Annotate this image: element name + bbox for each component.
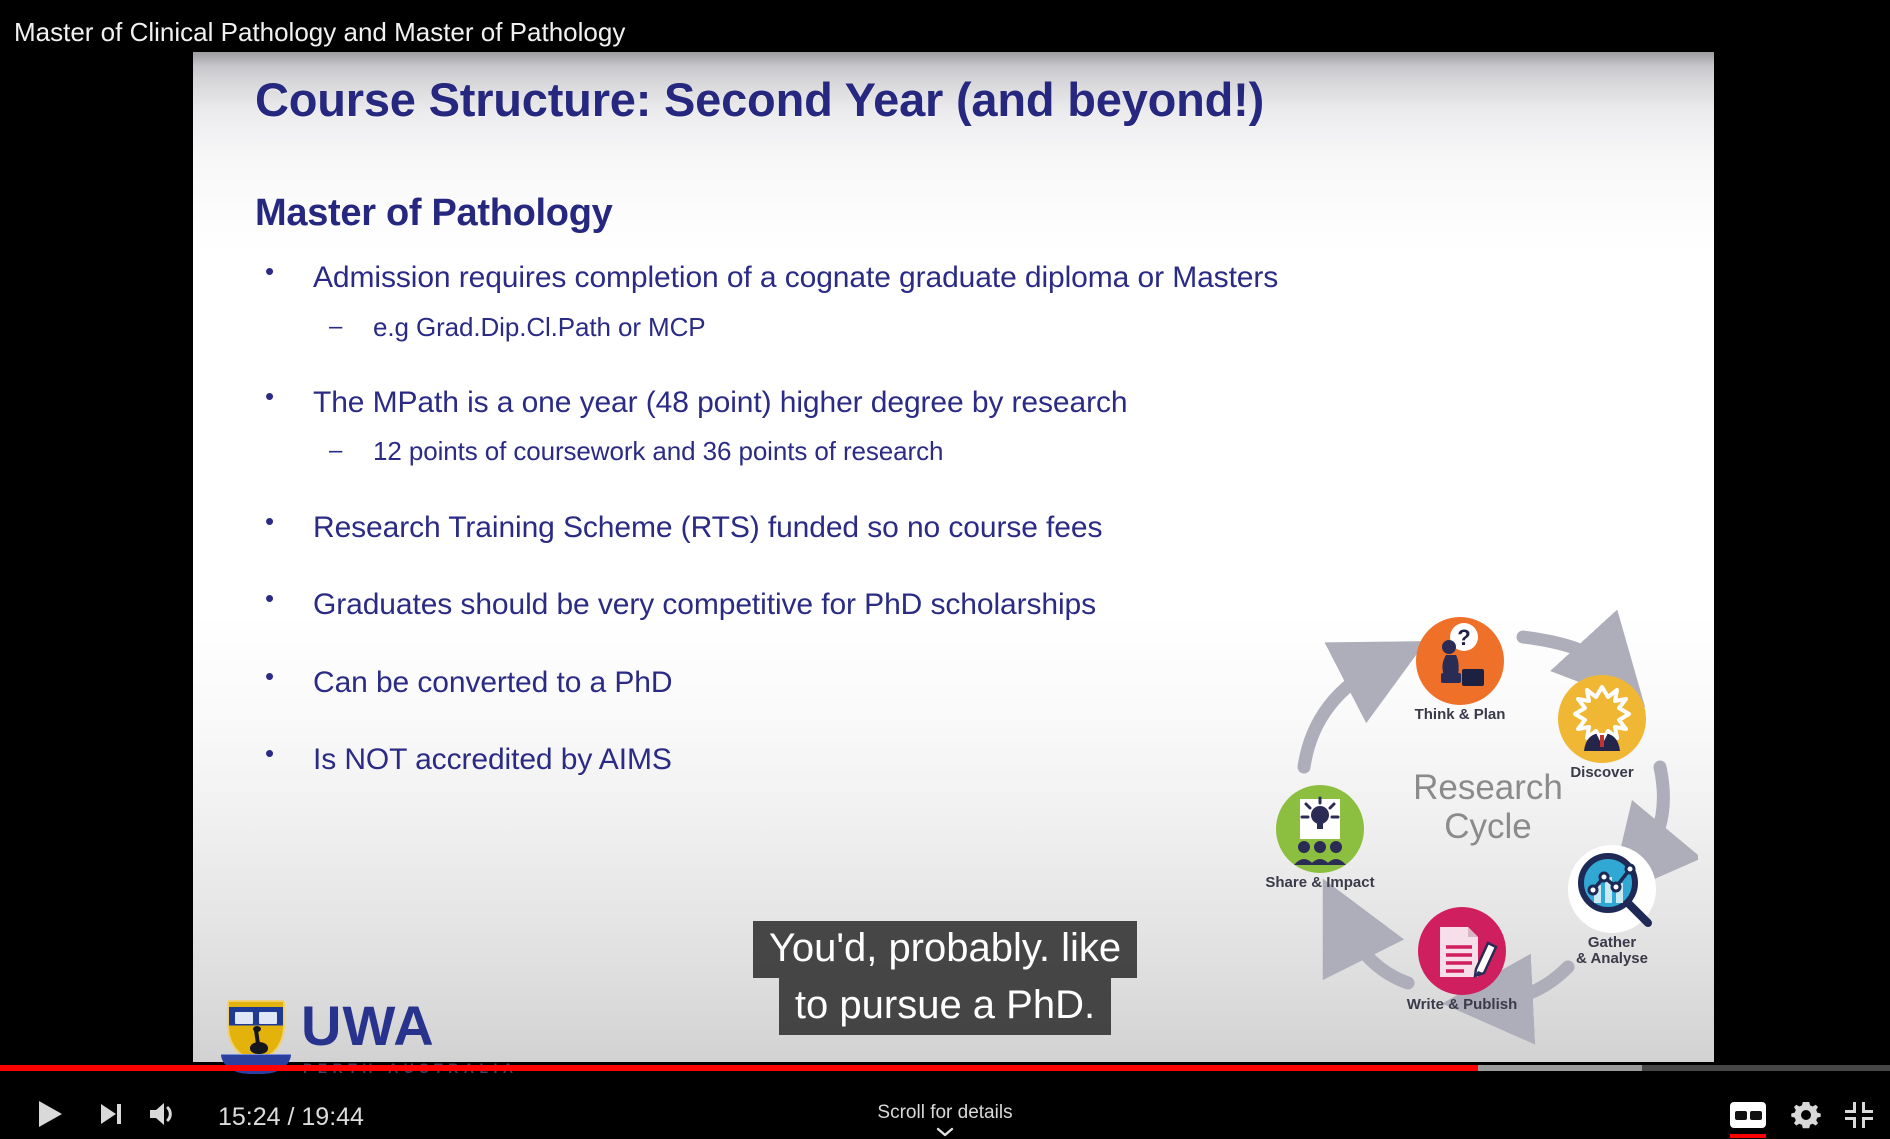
slide-title: Course Structure: Second Year (and beyon… [255,72,1655,127]
cc-active-indicator [1730,1134,1766,1138]
cycle-node-label: Share & Impact [1232,875,1408,891]
volume-icon [147,1100,179,1128]
next-video-button[interactable] [88,1094,134,1134]
volume-button[interactable] [140,1094,186,1134]
cycle-node-label: Gather & Analyse [1524,935,1700,967]
player-controls: 15:24 / 19:44 Scroll for details [0,1050,1890,1139]
svg-text:?: ? [1457,625,1470,650]
progress-bar[interactable] [0,1065,1890,1071]
time-display: 15:24 / 19:44 [218,1103,364,1132]
cycle-node-label: Write & Publish [1374,997,1550,1013]
subtitles-cc-button[interactable] [1724,1094,1772,1136]
play-icon [35,1098,65,1130]
bullet-sub-item: 12 points of coursework and 36 points of… [255,438,1645,465]
play-button[interactable] [24,1094,76,1134]
exit-fullscreen-button[interactable] [1836,1094,1882,1136]
cycle-node-discover: Discover [1558,675,1646,763]
uwa-wordmark: UWA [301,998,435,1054]
bullet-sub-item: e.g Grad.Dip.Cl.Path or MCP [255,314,1645,341]
cycle-node-label: Discover [1514,765,1690,781]
slide-subtitle: Master of Pathology [255,192,612,235]
bullet-item: Admission requires completion of a cogna… [255,262,1645,294]
cycle-node-label-line1: Gather [1588,934,1636,951]
lightbulb-audience-icon [1276,785,1364,873]
cycle-node-label-line2: & Analyse [1576,950,1648,967]
cycle-center-line2: Cycle [1444,807,1532,846]
person-thinking-icon: ? [1416,617,1504,705]
settings-button[interactable] [1784,1094,1828,1136]
cycle-node-gather-and-analyse: Gather & Analyse [1568,845,1656,933]
cc-icon [1730,1102,1766,1128]
video-player: Course Structure: Second Year (and beyon… [0,0,1890,1139]
chevron-down-icon [936,1127,954,1137]
magnifier-chart-icon [1568,845,1656,933]
idea-person-icon [1558,675,1646,763]
cycle-node-share-and-impact: Share & Impact [1276,785,1364,873]
bullet-item: Research Training Scheme (RTS) funded so… [255,512,1645,544]
gear-icon [1790,1099,1822,1131]
cycle-node-think-and-plan: ? Think & Plan [1416,617,1504,705]
progress-played [0,1065,1478,1071]
bullet-item: The MPath is a one year (48 point) highe… [255,387,1645,419]
cycle-node-write-and-publish: Write & Publish [1418,907,1506,995]
cycle-node-label: Think & Plan [1372,707,1548,723]
video-title: Master of Clinical Pathology and Master … [14,17,625,48]
slide-content: Course Structure: Second Year (and beyon… [193,52,1714,1062]
research-cycle-diagram: Research Cycle ? Think & Plan [1268,607,1698,1062]
next-track-icon [98,1101,124,1127]
exit-fullscreen-icon [1844,1100,1874,1130]
document-pencil-icon [1418,907,1506,995]
